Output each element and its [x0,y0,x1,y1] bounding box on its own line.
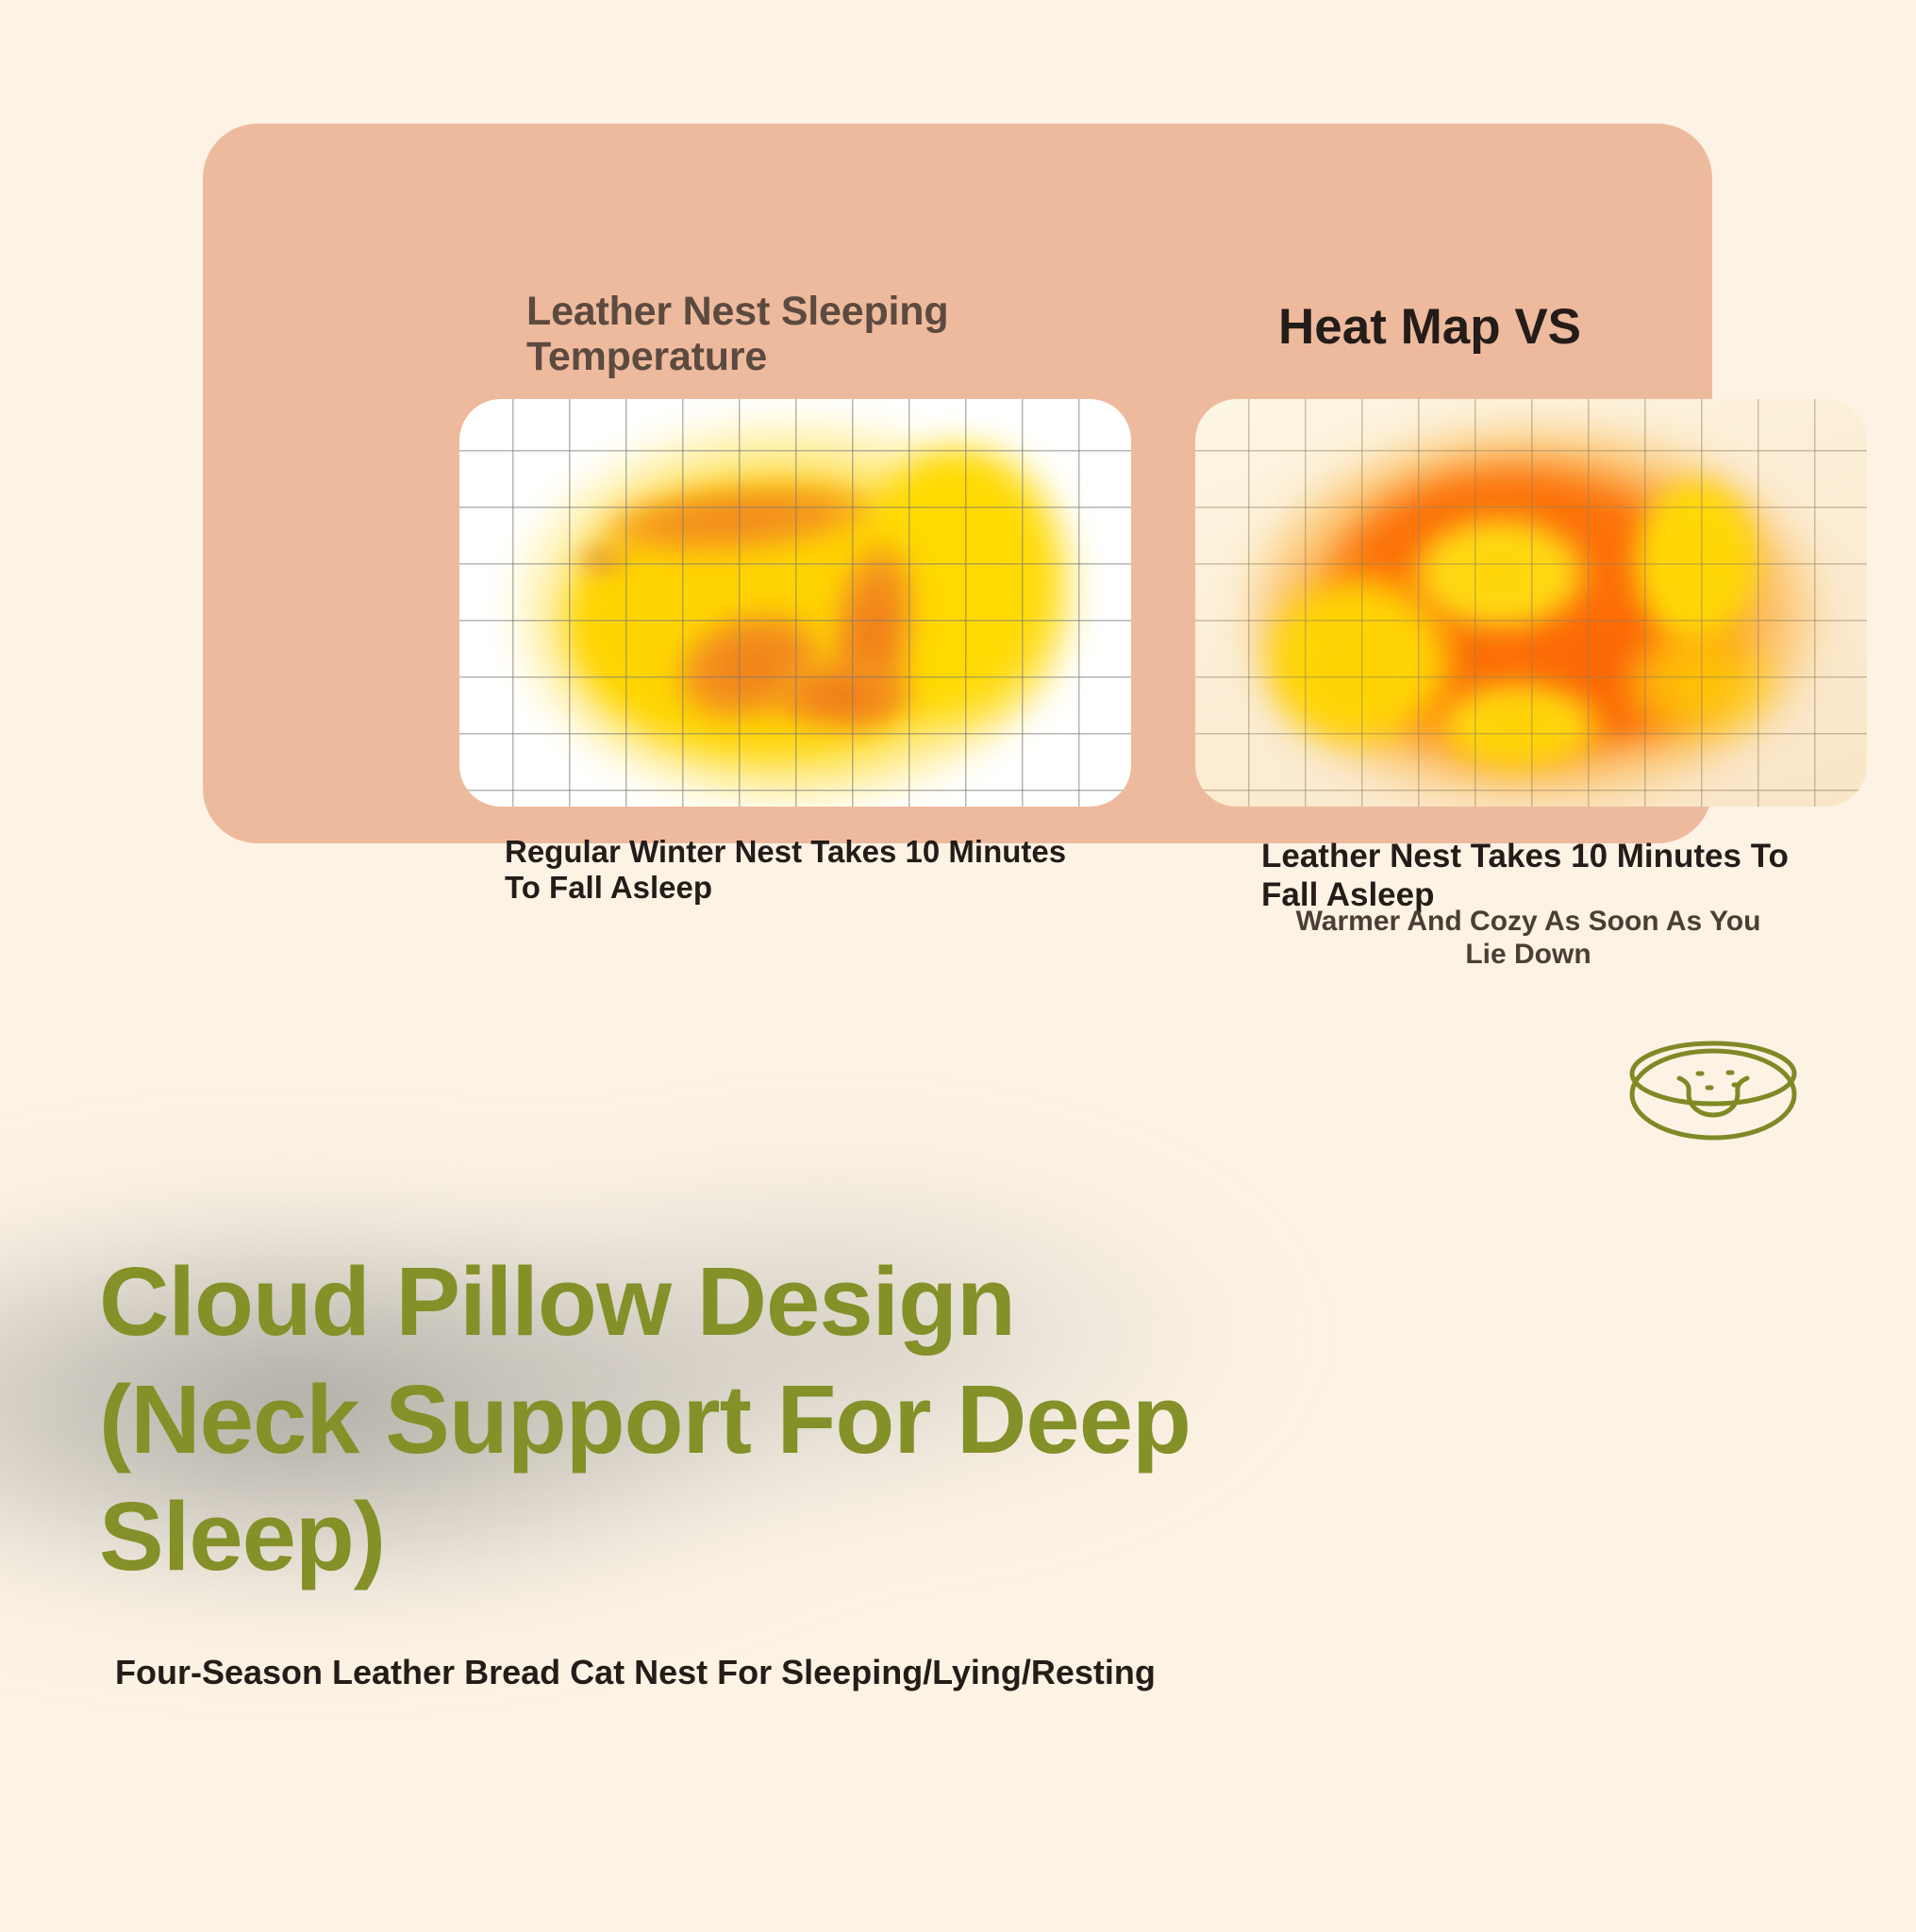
pet-nest-icon [1624,1036,1802,1147]
heatmap-comparison-card: Leather Nest Sleeping Temperature Heat M… [203,124,1712,843]
product-infographic-page: Leather Nest Sleeping Temperature Heat M… [0,0,1916,1932]
right-panel-caption: Leather Nest Takes 10 Minutes To Fall As… [1261,838,1790,914]
left-panel-title: Leather Nest Sleeping Temperature [526,289,1036,379]
leather-nest-heatmap [1195,399,1867,807]
regular-winter-nest-heatmap [459,399,1131,807]
section-heading: Cloud Pillow Design (Neck Support For De… [99,1243,1231,1596]
right-panel-subcaption: Warmer And Cozy As Soon As You Lie Down [1292,905,1764,972]
section-subtitle: Four-Season Leather Bread Cat Nest For S… [115,1653,1341,1692]
heatmap-grid-left [459,399,1131,807]
left-panel-caption: Regular Winter Nest Takes 10 Minutes To … [505,834,1108,907]
heatmap-grid-right [1195,399,1867,807]
heat-map-vs-title: Heat Map VS [1278,299,1722,355]
